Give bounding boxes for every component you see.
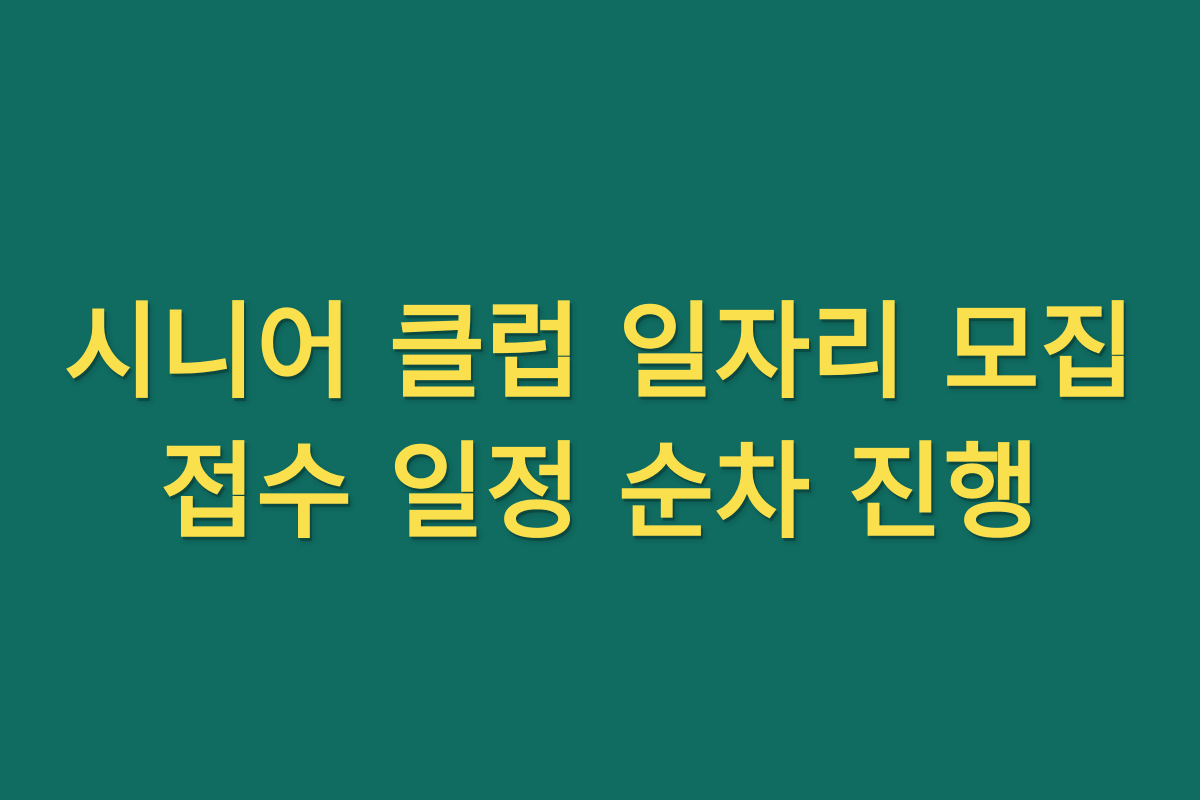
headline-block: 시니어 클럽 일자리 모집 접수 일정 순차 진행 [40,282,1160,562]
banner-card: 시니어 클럽 일자리 모집 접수 일정 순차 진행 [0,0,1200,800]
headline-line-1: 시니어 클럽 일자리 모집 [40,282,1160,422]
headline-line-2: 접수 일정 순차 진행 [40,422,1160,562]
